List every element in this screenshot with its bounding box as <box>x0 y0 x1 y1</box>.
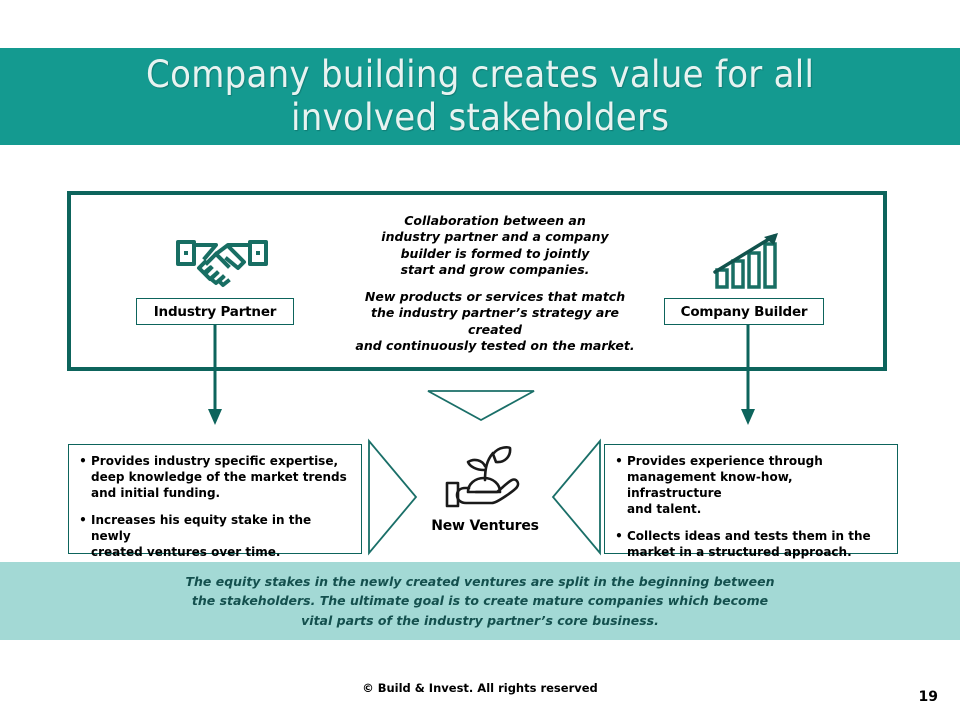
copyright-text: © Build & Invest. All rights reserved <box>0 681 960 695</box>
collaboration-paragraph-2: New products or services that match the … <box>355 289 635 354</box>
arrow-down-right-icon <box>738 325 758 425</box>
company-builder-label: Company Builder <box>664 298 824 325</box>
header-banner: Company building creates value for all i… <box>0 48 960 145</box>
page-title: Company building creates value for all i… <box>146 54 814 140</box>
bullet-text: Provides experience through management k… <box>627 454 889 518</box>
industry-partner-label: Industry Partner <box>136 298 294 325</box>
slide: Company building creates value for all i… <box>0 0 960 720</box>
summary-text: The equity stakes in the newly created v… <box>185 572 774 630</box>
chevron-right-icon <box>366 438 421 556</box>
list-item: • Collects ideas and tests them in the m… <box>611 529 889 561</box>
company-builder-contributions: • Provides experience through management… <box>604 444 898 554</box>
growth-chart-icon <box>712 228 792 290</box>
bullet-marker: • <box>75 513 91 529</box>
bullet-marker: • <box>611 529 627 545</box>
collaboration-description: Collaboration between an industry partne… <box>355 213 635 354</box>
new-ventures-label: New Ventures <box>410 518 560 534</box>
page-number: 19 <box>919 689 938 705</box>
arrow-down-left-icon <box>205 325 225 425</box>
bullet-marker: • <box>611 454 627 470</box>
list-item: • Increases his equity stake in the newl… <box>75 513 353 561</box>
summary-band: The equity stakes in the newly created v… <box>0 562 960 640</box>
handshake-icon <box>172 230 272 290</box>
bullet-text: Provides industry specific expertise, de… <box>91 454 353 502</box>
hand-holding-plant-icon <box>443 444 527 512</box>
chevron-down-icon <box>426 388 536 423</box>
collaboration-paragraph-1: Collaboration between an industry partne… <box>355 213 635 278</box>
bullet-text: Increases his equity stake in the newly … <box>91 513 353 561</box>
bullet-marker: • <box>75 454 91 470</box>
list-item: • Provides experience through management… <box>611 454 889 518</box>
bullet-text: Collects ideas and tests them in the mar… <box>627 529 889 561</box>
chevron-left-icon <box>548 438 603 556</box>
industry-partner-contributions: • Provides industry specific expertise, … <box>68 444 362 554</box>
list-item: • Provides industry specific expertise, … <box>75 454 353 502</box>
